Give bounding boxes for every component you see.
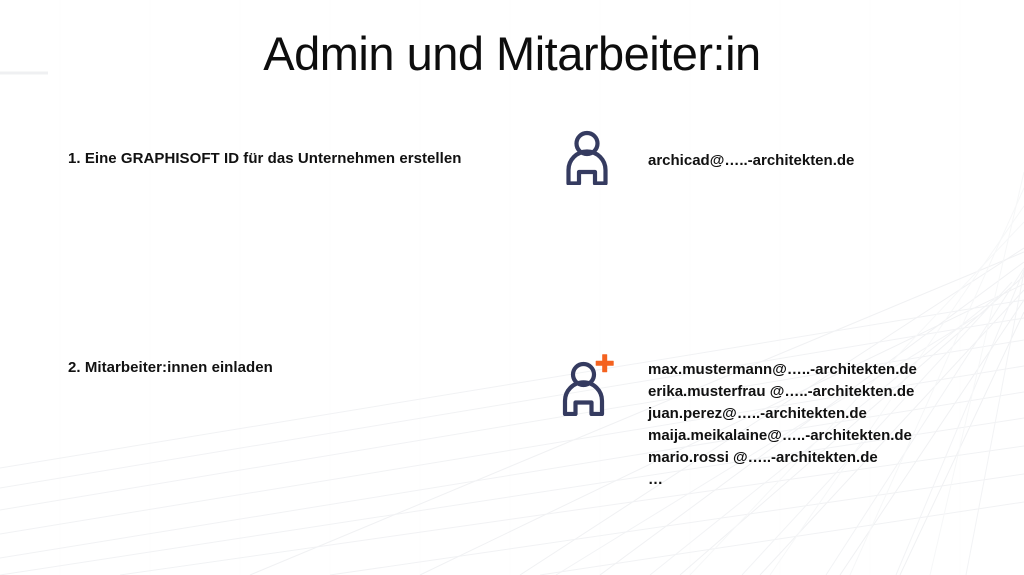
- step-2-label: 2. Mitarbeiter:innen einladen: [68, 359, 273, 376]
- email-line: erika.musterfrau @…..-architekten.de: [648, 381, 917, 403]
- step-1-label: 1. Eine GRAPHISOFT ID für das Unternehme…: [68, 150, 461, 167]
- email-line: juan.perez@…..-architekten.de: [648, 403, 917, 425]
- email-line: archicad@…..-architekten.de: [648, 150, 854, 172]
- page-title: Admin und Mitarbeiter:in: [0, 26, 1024, 81]
- step-1-email-list: archicad@…..-architekten.de: [648, 150, 854, 172]
- email-line: max.mustermann@…..-architekten.de: [648, 359, 917, 381]
- person-add-icon: [558, 352, 620, 416]
- email-line: …: [648, 469, 917, 491]
- slide-canvas: Admin und Mitarbeiter:in 1. Eine GRAPHIS…: [0, 0, 1024, 575]
- email-line: maija.meikalaine@…..-architekten.de: [648, 425, 917, 447]
- email-line: mario.rossi @…..-architekten.de: [648, 447, 917, 469]
- step-2-email-list: max.mustermann@…..-architekten.de erika.…: [648, 359, 917, 491]
- plus-icon: [596, 354, 614, 372]
- person-icon: [560, 129, 614, 185]
